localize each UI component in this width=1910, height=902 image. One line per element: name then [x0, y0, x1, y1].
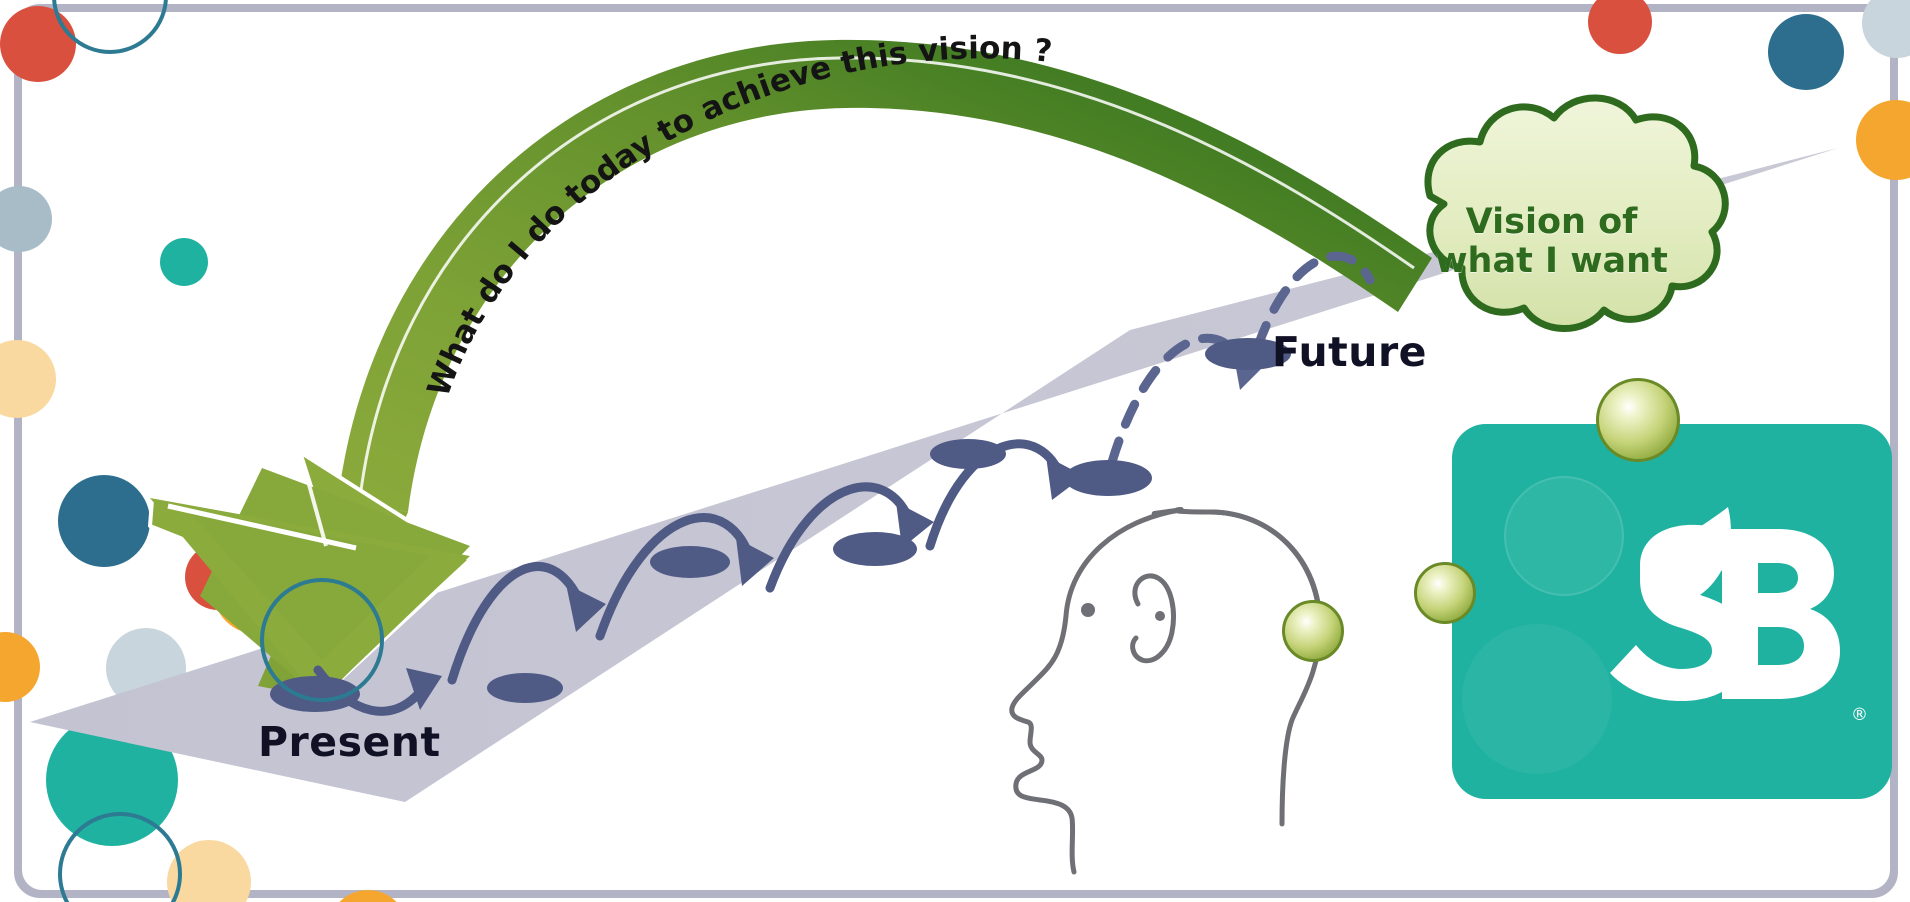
stepping-stone — [487, 673, 563, 703]
stepping-stone — [650, 546, 730, 578]
sb-monogram-icon — [1522, 479, 1852, 749]
label-future: Future — [1272, 328, 1427, 376]
head-profile-icon — [1012, 509, 1320, 872]
sb-logo-card[interactable]: ® — [1452, 424, 1892, 799]
green-sphere — [1414, 562, 1476, 624]
green-sphere — [1596, 378, 1680, 462]
stepping-stone — [833, 532, 917, 566]
vision-cloud-text: Vision of what I want — [1430, 203, 1673, 280]
registered-trademark-mark: ® — [1851, 705, 1868, 725]
label-present: Present — [258, 718, 441, 766]
green-sphere — [1282, 600, 1344, 662]
stepping-stone — [1064, 460, 1152, 496]
stepping-stone — [930, 439, 1006, 469]
poster-canvas: What do I do today to achieve this visio… — [0, 0, 1910, 902]
